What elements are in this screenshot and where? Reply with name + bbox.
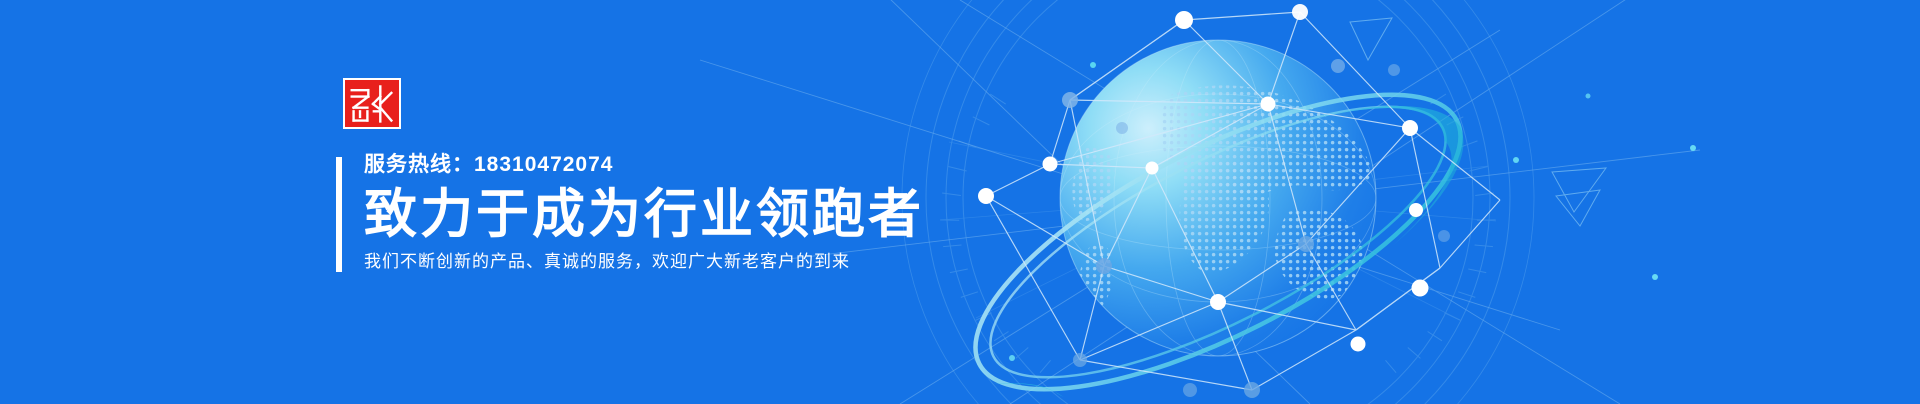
orbital-ring-accent <box>1295 58 1495 261</box>
service-hotline: 服务热线：18310472074 <box>364 152 1076 178</box>
company-seal-logo <box>343 78 401 129</box>
banner-content: 服务热线：18310472074 致力于成为行业领跑者 我们不断创新的产品、真诚… <box>336 60 1096 360</box>
globe-map-continents <box>1072 85 1371 314</box>
decorative-triangles <box>1350 18 1606 226</box>
orbital-ring-left-accent <box>992 358 1064 404</box>
globe-graticule <box>1060 40 1376 356</box>
page-title: 致力于成为行业领跑者 <box>364 184 1076 246</box>
globe-sphere <box>1060 40 1376 356</box>
seal-glyph-icon <box>345 80 399 127</box>
promo-banner: 服务热线：18310472074 致力于成为行业领跑者 我们不断创新的产品、真诚… <box>0 0 1920 404</box>
subtitle: 我们不断创新的产品、真诚的服务，欢迎广大新老客户的到来 <box>364 250 1076 274</box>
headline-group: 服务热线：18310472074 致力于成为行业领跑者 我们不断创新的产品、真诚… <box>336 152 1076 274</box>
